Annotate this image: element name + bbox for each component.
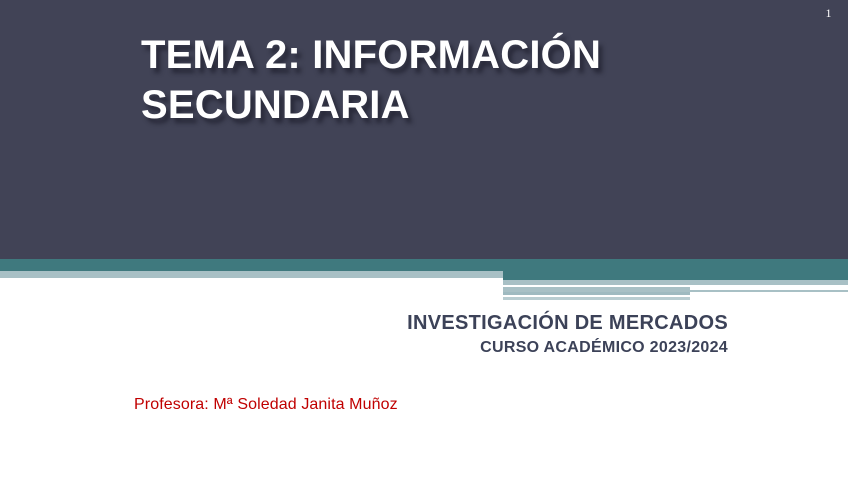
slide-number: 1 [826,6,833,21]
accent-stripe-teal-top [0,259,848,271]
accent-stripe-right-7 [503,297,690,300]
decorative-accent-band [0,259,848,301]
slide-title-line-1: TEMA 2: INFORMACIÓN [141,30,741,80]
accent-stripe-right-8 [828,285,848,288]
slide-subtitle-group: INVESTIGACIÓN DE MERCADOS CURSO ACADÉMIC… [0,310,728,360]
accent-stripe-right-4 [690,287,848,290]
professor-name: Profesora: Mª Soledad Janita Muñoz [134,396,398,414]
presentation-slide: 1 TEMA 2: INFORMACIÓN SECUNDARIA INVESTI… [0,0,848,477]
course-name: INVESTIGACIÓN DE MERCADOS [0,310,728,336]
slide-header-block: 1 TEMA 2: INFORMACIÓN SECUNDARIA [0,0,848,259]
slide-title-line-2: SECUNDARIA [141,80,741,130]
academic-year: CURSO ACADÉMICO 2023/2024 [0,336,728,360]
slide-title: TEMA 2: INFORMACIÓN SECUNDARIA [141,30,741,130]
accent-stripe-left-light [0,271,503,278]
accent-stripe-teal-right [503,271,848,280]
